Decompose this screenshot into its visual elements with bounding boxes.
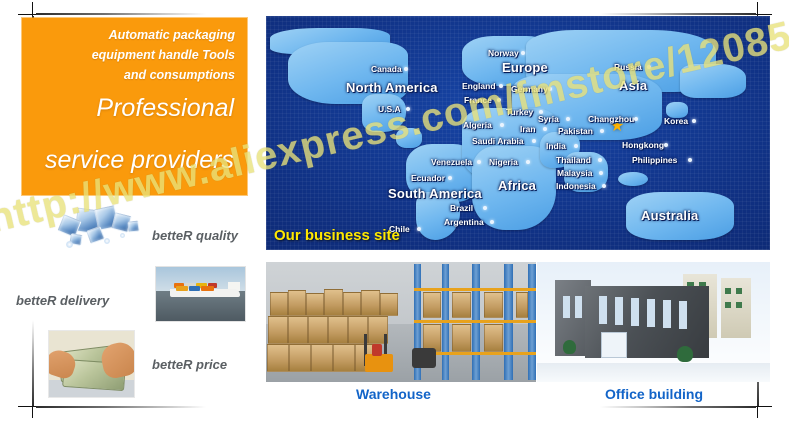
- map-label-venezuela: Venezuela: [431, 157, 472, 167]
- frame-rule-bottom-left: [36, 406, 206, 408]
- map-label-saudi-arabia: Saudi Arabia: [472, 136, 524, 146]
- headline-subtitle-line-1: Automatic packaging: [30, 25, 235, 45]
- cargo-ship-image: [155, 266, 246, 322]
- map-dot-canada: [404, 67, 408, 71]
- diamonds-image: [58, 205, 144, 251]
- office-entrance: [601, 332, 627, 358]
- map-label-indonesia: Indonesia: [556, 181, 596, 191]
- map-label-pakistan: Pakistan: [558, 126, 593, 136]
- banner-canvas: Automatic packaging equipment handle Too…: [0, 0, 789, 428]
- feature-label-price: betteR price: [152, 357, 227, 372]
- map-label-europe: Europe: [502, 60, 548, 75]
- map-label-malaysia: Malaysia: [557, 168, 592, 178]
- frame-rule-left-lower: [32, 320, 34, 406]
- frame-rule-top-right: [600, 13, 756, 15]
- map-label-africa: Africa: [498, 178, 536, 193]
- map-label-nigeria: Nigeria: [489, 157, 518, 167]
- map-label-england: England: [462, 81, 496, 91]
- map-label-thailand: Thailand: [556, 155, 591, 165]
- crop-mark-top-left-h: [18, 14, 38, 15]
- map-label-brazil: Brazil: [450, 203, 473, 213]
- residential-block-2: [721, 278, 751, 338]
- business-site-label: Our business site: [274, 227, 400, 244]
- headline-subtitle: Automatic packaging equipment handle Too…: [30, 25, 235, 85]
- map-dot-brazil: [483, 206, 487, 210]
- feature-label-delivery: betteR delivery: [16, 293, 109, 308]
- landmass-philippines: [618, 172, 648, 186]
- map-dot-england: [499, 84, 503, 88]
- office-plant-left: [563, 340, 576, 354]
- map-dot-korea: [692, 119, 696, 123]
- map-dot-thailand: [598, 158, 602, 162]
- map-dot-malaysia: [599, 171, 603, 175]
- map-label-india: India: [546, 141, 566, 151]
- map-dot-norway: [521, 51, 525, 55]
- map-label-canada: Canada: [371, 64, 402, 74]
- map-label-russia: Russia: [614, 62, 642, 72]
- map-dot-u-s-a: [406, 107, 410, 111]
- map-label-north-america: North America: [346, 80, 438, 95]
- frame-rule-bottom-right: [600, 406, 756, 408]
- money-cash-image: [48, 330, 135, 398]
- map-label-korea: Korea: [664, 116, 688, 126]
- map-dot-india: [574, 144, 578, 148]
- map-label-ecuador: Ecuador: [411, 173, 445, 183]
- map-label-algeria: Algeria: [463, 120, 492, 130]
- office-plant-right: [677, 346, 693, 362]
- headline-subtitle-line-3: and consumptions: [30, 65, 235, 85]
- frame-rule-top-left: [36, 13, 206, 15]
- office-building-caption: Office building: [605, 386, 703, 402]
- landmass-far-east: [680, 64, 746, 98]
- headline-panel: Automatic packaging equipment handle Too…: [22, 18, 247, 195]
- map-label-germany: Germany: [511, 84, 548, 94]
- feature-label-quality: betteR quality: [152, 228, 238, 243]
- landmass-central-america: [396, 128, 422, 148]
- map-label-turkey: Turkey: [506, 107, 533, 117]
- map-label-iran: Iran: [520, 124, 536, 134]
- map-label-syria: Syria: [538, 114, 559, 124]
- map-label-philippines: Philippines: [632, 155, 677, 165]
- map-dot-syria: [566, 117, 570, 121]
- map-dot-russia: [647, 65, 651, 69]
- office-building-photo[interactable]: [537, 262, 770, 382]
- office-ground: [537, 363, 770, 382]
- map-label-argentina: Argentina: [444, 217, 484, 227]
- crop-mark-bottom-left-h: [18, 406, 38, 407]
- map-dot-hongkong: [664, 143, 668, 147]
- map-dot-pakistan: [600, 129, 604, 133]
- map-label-u-s-a: U.S.A: [378, 104, 401, 114]
- world-map[interactable]: ★ CanadaNorth AmericaU.S.AVenezuelaEcuad…: [266, 16, 770, 250]
- map-label-hongkong: Hongkong: [622, 140, 664, 150]
- map-dot-chile: [417, 227, 421, 231]
- headline-subtitle-line-2: equipment handle Tools: [30, 45, 235, 65]
- map-label-changzhou: Changzhou: [588, 114, 634, 124]
- warehouse-caption: Warehouse: [356, 386, 431, 402]
- map-label-australia: Australia: [641, 208, 698, 223]
- map-label-asia: Asia: [619, 78, 647, 93]
- map-label-south-america: South America: [388, 186, 482, 201]
- map-dot-indonesia: [602, 184, 606, 188]
- map-dot-philippines: [688, 158, 692, 162]
- headline-title-line-1: Professional: [28, 94, 234, 122]
- map-label-norway: Norway: [488, 48, 519, 58]
- map-label-france: France: [464, 95, 492, 105]
- warehouse-photo[interactable]: [266, 262, 536, 382]
- headline-title-line-2: service providers: [22, 146, 234, 174]
- map-dot-france: [497, 98, 501, 102]
